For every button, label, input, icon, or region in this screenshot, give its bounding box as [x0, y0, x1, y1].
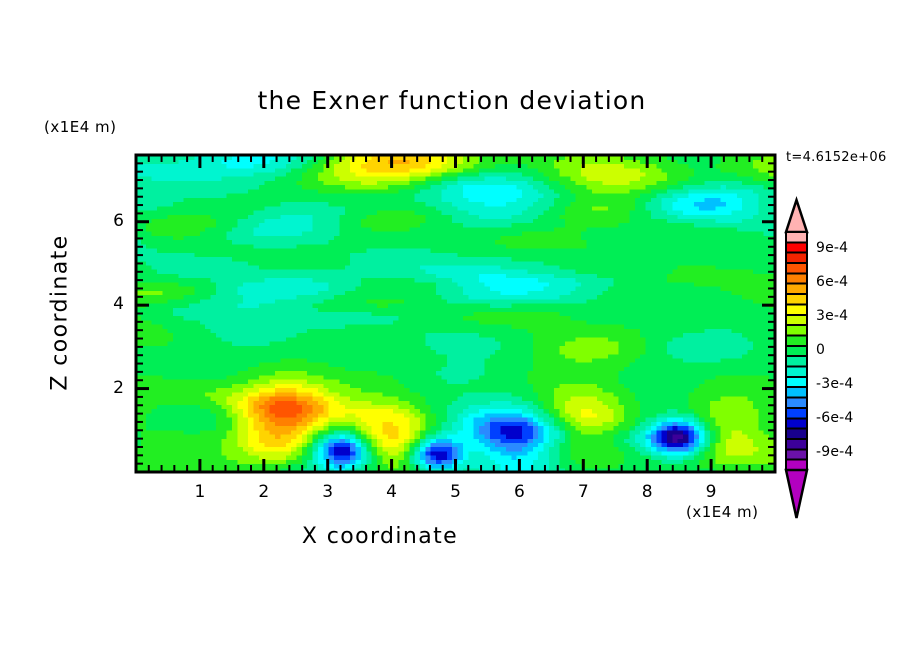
x-tick-label: 8 — [632, 482, 662, 502]
x-tick-label: 4 — [377, 482, 407, 502]
x-tick-label: 1 — [185, 482, 215, 502]
x-tick-label: 3 — [313, 482, 343, 502]
x-tick-label: 7 — [568, 482, 598, 502]
colorbar-tick-label: 9e-4 — [816, 240, 848, 256]
x-tick-label: 5 — [441, 482, 471, 502]
colorbar-tick-label: -6e-4 — [816, 410, 854, 426]
colorbar-tick-label: -3e-4 — [816, 376, 854, 392]
colorbar-tick-label: 0 — [816, 342, 825, 358]
contour-field — [135, 154, 775, 472]
x-tick-label: 6 — [504, 482, 534, 502]
colorbar-tick-label: 3e-4 — [816, 308, 848, 324]
y-tick-label: 6 — [94, 211, 124, 231]
colorbar-tick-label: -9e-4 — [816, 444, 854, 460]
colorbar-tick-label: 6e-4 — [816, 274, 848, 290]
y-tick-label: 2 — [94, 378, 124, 398]
y-tick-label: 4 — [94, 294, 124, 314]
x-tick-label: 9 — [696, 482, 726, 502]
colorbar[interactable] — [786, 200, 807, 518]
x-tick-label: 2 — [249, 482, 279, 502]
contour-plot — [0, 0, 904, 654]
